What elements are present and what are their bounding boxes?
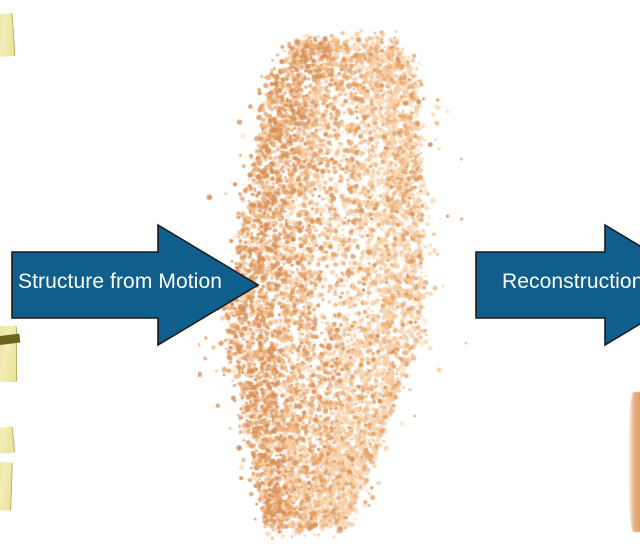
photo-thumbnail-2 xyxy=(0,426,15,455)
mesh-model-sliver xyxy=(628,392,640,532)
photo-thumbnail-0 xyxy=(0,13,15,58)
arrow-label-structure-from-motion: Structure from Motion xyxy=(18,271,222,292)
photo-thumbnail-3 xyxy=(0,461,13,510)
slide-canvas: Structure from Motion Reconstruction xyxy=(0,0,640,555)
arrow-label-reconstruction: Reconstruction xyxy=(502,271,640,292)
